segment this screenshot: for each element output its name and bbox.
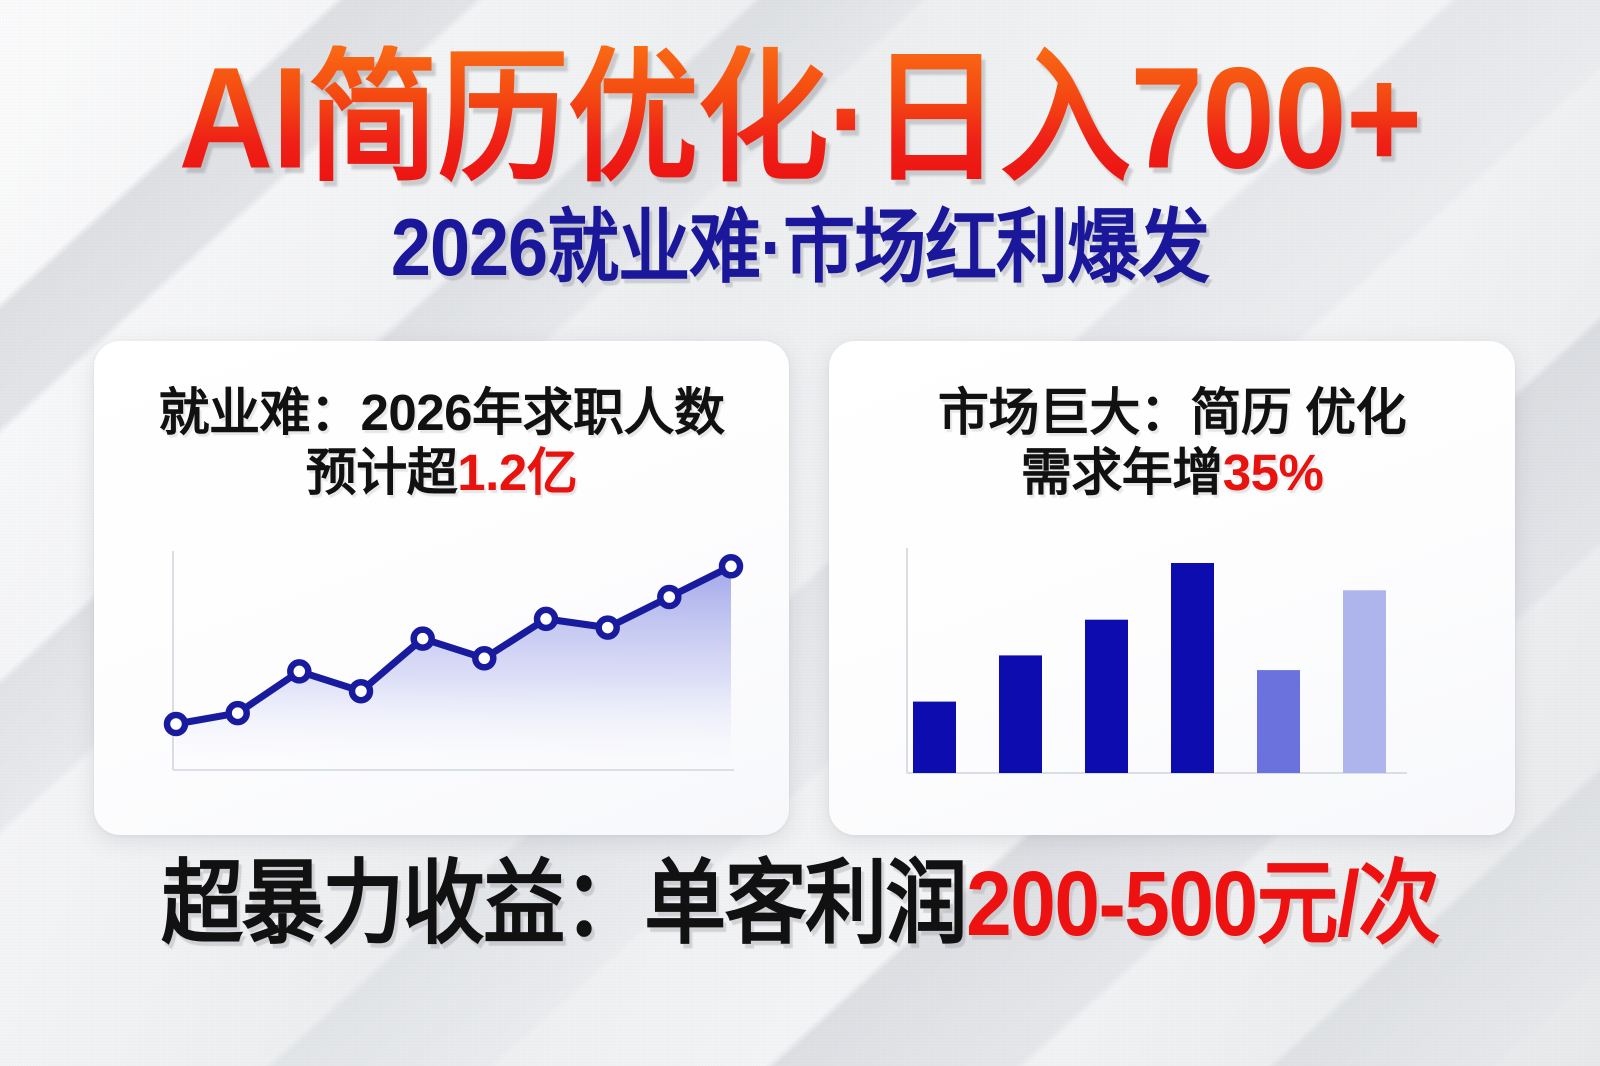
line-chart-point [167,715,185,733]
line-chart-point [352,682,370,700]
line-chart-container [94,341,789,835]
bar-chart-axes [907,548,1407,773]
subtitle-block: 2026就业难·市场红利爆发 [0,212,1600,284]
footer-banner: 超暴力收益：单客利润200-500元/次 [0,864,1600,946]
line-chart-point [537,610,555,628]
headline-block: AI简历优化·日入700+ [0,52,1600,183]
bar-chart-bar [1343,590,1386,773]
footer-accent-value: 200-500元/次 [966,853,1439,955]
line-chart-point [475,649,493,667]
line-chart-point [599,619,617,637]
stat-card-market-size: 市场巨大：简历 优化 需求年增35% [829,341,1515,835]
line-chart-point [414,630,432,648]
line-chart-point [722,557,740,575]
footer-prefix: 超暴力收益：单客利润 [161,853,966,955]
line-chart-area-fill [176,566,731,770]
bar-chart-bar [1171,563,1214,773]
line-chart-svg [94,341,789,835]
bar-chart-bar [1257,670,1300,773]
footer-text: 超暴力收益：单客利润200-500元/次 [161,859,1439,951]
main-title: AI简历优化·日入700+ [179,45,1422,189]
bar-chart-bar [1085,620,1128,773]
line-chart-point [229,704,247,722]
stat-card-employment-difficulty: 就业难：2026年求职人数 预计超1.2亿 [94,341,789,835]
bar-chart-bar [999,655,1042,773]
bar-chart-bar [913,702,956,773]
subtitle-text: 2026就业难·市场红利爆发 [391,208,1209,289]
bar-chart-bars [913,563,1386,773]
line-chart-point [660,588,678,606]
line-chart-point [290,662,308,680]
bar-chart-container [829,341,1515,835]
bar-chart-svg [829,341,1515,835]
